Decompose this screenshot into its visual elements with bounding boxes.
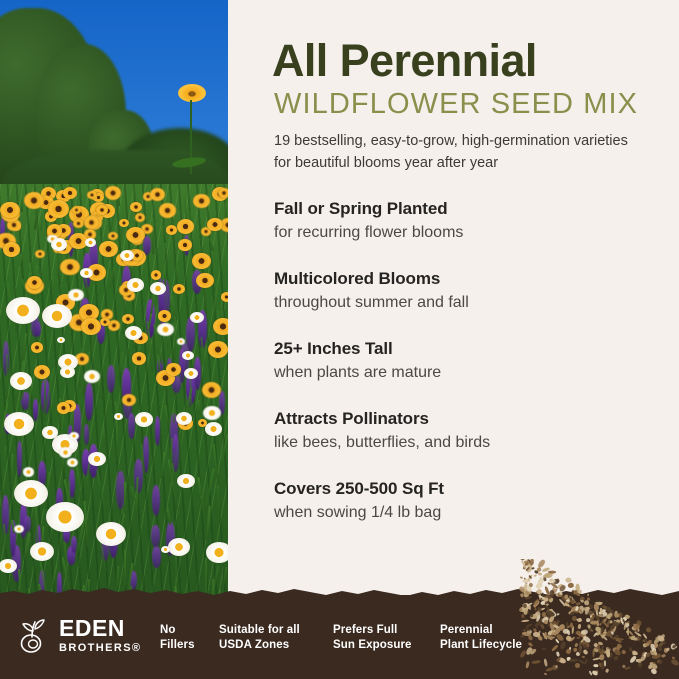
logo-name: EDEN bbox=[59, 617, 141, 640]
seed bbox=[529, 604, 532, 610]
black-eyed-susan bbox=[24, 192, 44, 210]
seed bbox=[529, 559, 534, 566]
black-eyed-susan bbox=[31, 342, 43, 352]
seed bbox=[661, 654, 666, 658]
seed bbox=[533, 575, 537, 578]
black-eyed-susan bbox=[196, 273, 214, 288]
white-daisy bbox=[161, 546, 170, 553]
white-daisy bbox=[150, 282, 166, 295]
feature-subtitle: like bees, butterflies, and birds bbox=[274, 432, 664, 454]
white-daisy bbox=[67, 458, 78, 467]
seed bbox=[621, 650, 626, 655]
black-eyed-susan bbox=[207, 218, 222, 231]
black-eyed-susan bbox=[208, 341, 228, 358]
logo-wordmark: EDEN BROTHERS® bbox=[59, 617, 141, 654]
text-panel: All Perennial WILDFLOWER SEED MIX 19 bes… bbox=[228, 0, 679, 608]
black-eyed-susan bbox=[48, 200, 69, 218]
badge-no-fillers: NoFillers bbox=[160, 623, 195, 653]
seed bbox=[650, 668, 658, 676]
seed bbox=[533, 631, 540, 636]
purple-flower bbox=[151, 525, 160, 546]
black-eyed-susan bbox=[99, 241, 117, 257]
seed bbox=[578, 624, 582, 629]
grass-blade bbox=[6, 354, 8, 399]
white-daisy bbox=[42, 304, 72, 328]
feature-title: Covers 250-500 Sq Ft bbox=[274, 478, 664, 500]
seed bbox=[548, 571, 556, 574]
seed bbox=[593, 657, 601, 661]
seed bbox=[581, 629, 589, 635]
black-eyed-susan bbox=[96, 205, 108, 215]
sprout-seed-icon bbox=[18, 618, 52, 654]
white-daisy bbox=[69, 432, 79, 440]
black-eyed-susan bbox=[158, 310, 172, 322]
grass-blade bbox=[19, 254, 22, 267]
seed bbox=[546, 667, 554, 672]
black-eyed-susan bbox=[192, 253, 210, 269]
feature-subtitle: for recurring flower blooms bbox=[274, 222, 664, 244]
seed bbox=[568, 659, 577, 662]
feature-item: 25+ Inches Tallwhen plants are mature bbox=[274, 338, 664, 384]
badge-sun-exposure: Prefers FullSun Exposure bbox=[333, 623, 412, 653]
feature-item: Fall or Spring Plantedfor recurring flow… bbox=[274, 198, 664, 244]
seed bbox=[575, 663, 581, 669]
seed bbox=[525, 661, 530, 668]
black-eyed-susan bbox=[73, 219, 84, 228]
white-daisy bbox=[135, 412, 153, 427]
purple-flower bbox=[155, 416, 160, 446]
black-eyed-susan bbox=[0, 202, 19, 218]
badge-plant-lifecycle: PerennialPlant Lifecycle bbox=[440, 623, 522, 653]
seed bbox=[605, 668, 609, 673]
seed bbox=[645, 626, 652, 633]
seed bbox=[539, 576, 543, 580]
seed bbox=[603, 661, 606, 667]
eden-brothers-logo: EDEN BROTHERS® bbox=[18, 617, 141, 654]
seed bbox=[551, 644, 558, 651]
footer-bar: EDEN BROTHERS® NoFillers Suitable for al… bbox=[0, 595, 679, 679]
grass-blade bbox=[123, 550, 125, 588]
seed bbox=[613, 655, 619, 660]
seed bbox=[583, 599, 589, 605]
page-title: All Perennial bbox=[272, 36, 537, 86]
white-daisy bbox=[68, 289, 84, 302]
feature-title: 25+ Inches Tall bbox=[274, 338, 664, 360]
grass-blade bbox=[21, 198, 23, 212]
feature-title: Attracts Pollinators bbox=[274, 408, 664, 430]
black-eyed-susan bbox=[81, 318, 101, 335]
purple-flower bbox=[24, 516, 31, 532]
seed bbox=[568, 582, 575, 588]
seed bbox=[646, 652, 652, 658]
feature-title: Multicolored Blooms bbox=[274, 268, 664, 290]
white-daisy bbox=[206, 542, 228, 563]
black-eyed-susan bbox=[87, 191, 97, 199]
seed-pile bbox=[519, 559, 679, 679]
seed bbox=[618, 640, 623, 644]
black-eyed-susan bbox=[213, 318, 228, 335]
badge-usda-zones: Suitable for allUSDA Zones bbox=[219, 623, 300, 653]
white-daisy bbox=[96, 522, 126, 546]
seed bbox=[580, 597, 584, 600]
white-daisy bbox=[57, 337, 65, 343]
white-daisy bbox=[42, 426, 57, 438]
seed bbox=[557, 613, 560, 616]
white-daisy bbox=[10, 372, 32, 390]
seed bbox=[531, 566, 534, 569]
black-eyed-susan bbox=[119, 219, 129, 227]
black-eyed-susan bbox=[72, 206, 81, 214]
product-infographic: All Perennial WILDFLOWER SEED MIX 19 bes… bbox=[0, 0, 679, 679]
seed bbox=[570, 600, 575, 603]
black-eyed-susan bbox=[193, 194, 209, 208]
seed bbox=[543, 631, 546, 638]
seed bbox=[616, 619, 620, 622]
seed bbox=[659, 642, 664, 647]
black-eyed-susan bbox=[151, 270, 162, 279]
black-eyed-susan bbox=[100, 318, 110, 326]
seed bbox=[593, 663, 598, 666]
white-daisy bbox=[168, 538, 190, 556]
white-daisy bbox=[14, 480, 48, 507]
seed bbox=[568, 596, 571, 598]
black-eyed-susan bbox=[166, 363, 180, 375]
seed bbox=[544, 673, 547, 676]
seed bbox=[520, 634, 525, 638]
white-daisy bbox=[205, 422, 222, 436]
seed bbox=[625, 667, 631, 671]
seed bbox=[555, 651, 559, 656]
black-eyed-susan bbox=[57, 402, 70, 413]
logo-subname: BROTHERS® bbox=[59, 643, 141, 654]
feature-subtitle: throughout summer and fall bbox=[274, 292, 664, 314]
white-daisy bbox=[6, 297, 40, 324]
seed bbox=[532, 660, 541, 664]
black-eyed-susan bbox=[202, 382, 221, 398]
page-subtitle: WILDFLOWER SEED MIX bbox=[274, 88, 638, 120]
white-daisy bbox=[23, 467, 34, 476]
white-daisy bbox=[84, 370, 100, 383]
white-daisy bbox=[60, 366, 75, 378]
white-daisy bbox=[4, 412, 34, 436]
grass-blade bbox=[173, 316, 175, 360]
black-eyed-susan bbox=[159, 203, 176, 217]
black-eyed-susan bbox=[35, 250, 45, 259]
black-eyed-susan bbox=[122, 314, 134, 324]
black-eyed-susan bbox=[221, 292, 228, 302]
black-eyed-susan bbox=[132, 352, 146, 364]
purple-flower bbox=[128, 413, 136, 439]
wildflower-meadow-photo bbox=[0, 0, 228, 608]
purple-flower bbox=[152, 546, 161, 567]
white-daisy bbox=[176, 412, 192, 425]
seed bbox=[623, 622, 627, 630]
white-daisy bbox=[125, 326, 142, 340]
seed bbox=[564, 578, 570, 583]
white-daisy bbox=[85, 238, 96, 247]
feature-list: Fall or Spring Plantedfor recurring flow… bbox=[274, 198, 664, 548]
white-daisy bbox=[0, 559, 17, 573]
seed bbox=[542, 648, 547, 651]
feature-title: Fall or Spring Planted bbox=[274, 198, 664, 220]
seed bbox=[642, 633, 647, 639]
feature-item: Attracts Pollinatorslike bees, butterfli… bbox=[274, 408, 664, 454]
seed bbox=[670, 658, 679, 666]
black-eyed-susan bbox=[84, 216, 99, 229]
seed bbox=[521, 620, 529, 623]
seed bbox=[628, 654, 636, 663]
black-eyed-susan bbox=[130, 202, 142, 212]
tagline: 19 bestselling, easy-to-grow, high-germi… bbox=[274, 130, 644, 174]
feature-subtitle: when plants are mature bbox=[274, 362, 664, 384]
black-eyed-susan bbox=[135, 213, 146, 222]
black-eyed-susan bbox=[178, 239, 191, 251]
seed bbox=[578, 646, 582, 655]
white-daisy bbox=[59, 447, 72, 458]
tall-yellow-flower bbox=[178, 84, 206, 102]
feature-item: Multicolored Bloomsthroughout summer and… bbox=[274, 268, 664, 314]
feature-item: Covers 250-500 Sq Ftwhen sowing 1/4 lb b… bbox=[274, 478, 664, 524]
seed bbox=[549, 590, 555, 597]
seed bbox=[658, 646, 662, 651]
white-daisy bbox=[30, 542, 54, 561]
feature-subtitle: when sowing 1/4 lb bag bbox=[274, 502, 664, 524]
black-eyed-susan bbox=[60, 259, 80, 276]
white-daisy bbox=[182, 351, 194, 360]
black-eyed-susan bbox=[27, 276, 42, 289]
seed bbox=[559, 591, 562, 595]
seed bbox=[559, 641, 566, 650]
black-eyed-susan bbox=[177, 219, 194, 234]
seed bbox=[543, 659, 547, 667]
black-eyed-susan bbox=[108, 232, 117, 240]
seed bbox=[577, 617, 582, 622]
